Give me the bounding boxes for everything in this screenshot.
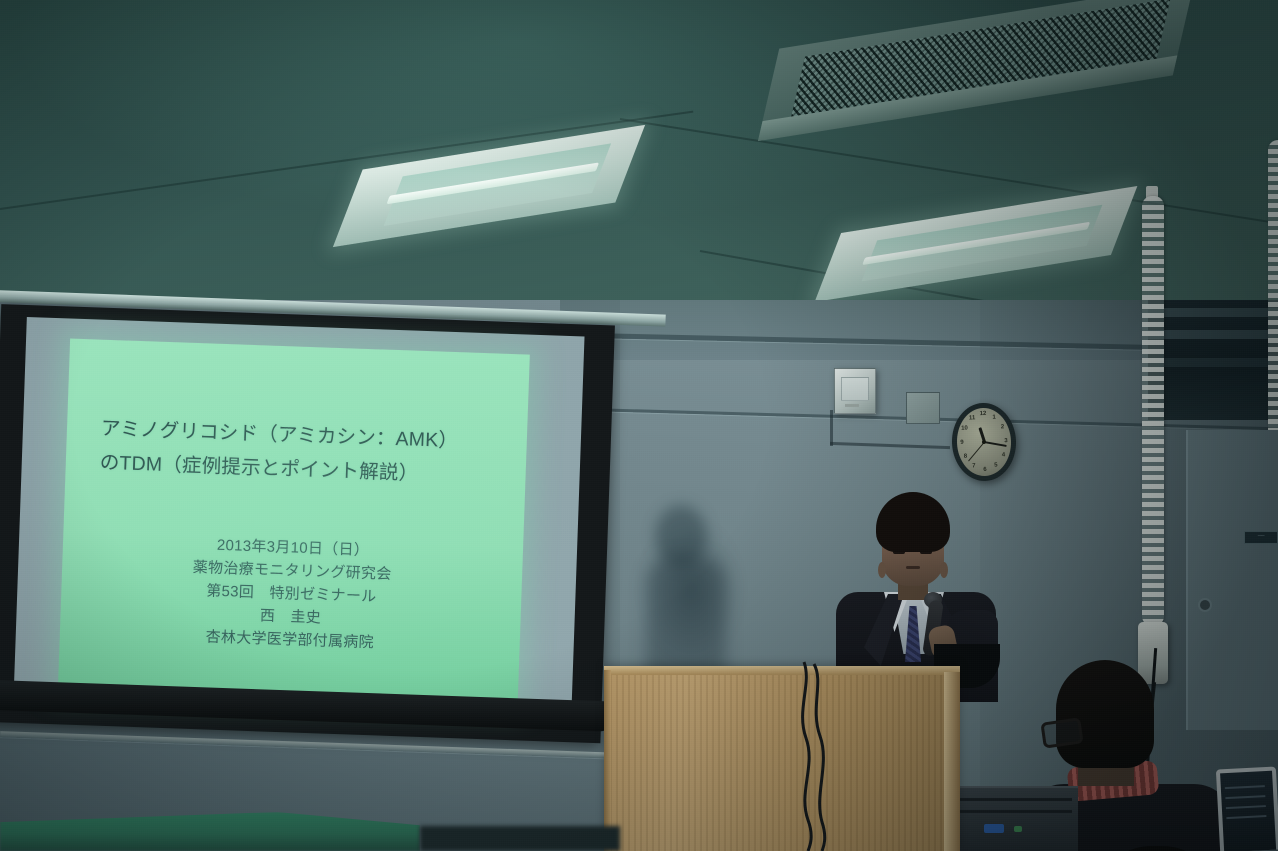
laptop-text-line <box>1225 795 1265 799</box>
clock-numeral: 12 <box>979 411 987 417</box>
presenter-hair <box>876 492 950 552</box>
clock-numeral: 11 <box>968 415 976 421</box>
wall-sign: ── <box>1244 531 1278 544</box>
control-box-led-strip <box>845 404 859 407</box>
clock-numeral: 6 <box>981 467 989 473</box>
rack-slot-line <box>944 798 1072 801</box>
slide-title: アミノグリコシド（アミカシン：AMK） のTDM（症例提示とポイント解説） <box>65 411 527 495</box>
podium-right-edge <box>944 672 960 851</box>
presenter-mouth <box>906 566 920 569</box>
wall-access-panel <box>906 392 940 424</box>
podium-top-edge <box>604 666 960 675</box>
clock-numeral: 4 <box>999 452 1007 458</box>
foreground-shadow-strip <box>420 826 620 851</box>
wall-sign-label: ── <box>1245 532 1277 541</box>
podium-wood-grain <box>604 666 960 851</box>
clock-numeral: 1 <box>990 414 998 420</box>
attendee-head <box>1056 660 1154 768</box>
eyeglasses-icon <box>1040 717 1083 748</box>
laptop-screen[interactable] <box>1216 766 1278 851</box>
ceiling-coiled-cable <box>1136 196 1170 666</box>
rack-slot-line <box>944 810 1072 813</box>
wooden-podium <box>604 666 960 851</box>
clock-numeral: 10 <box>960 426 968 432</box>
clock-numeral: 9 <box>958 440 966 446</box>
clock-numeral: 2 <box>998 424 1006 430</box>
clock-second-hand <box>968 442 985 462</box>
clock-numeral: 5 <box>992 462 1000 468</box>
control-box-slot <box>841 377 869 401</box>
cable-coil <box>1142 196 1164 626</box>
projected-slide: アミノグリコシド（アミカシン：AMK） のTDM（症例提示とポイント解説） 20… <box>58 339 530 705</box>
laptop-display <box>1220 771 1276 851</box>
screen-surface: アミノグリコシド（アミカシン：AMK） のTDM（症例提示とポイント解説） 20… <box>14 317 585 716</box>
door-knob-icon[interactable] <box>1200 600 1210 610</box>
lecture-hall-scene: 12 1 2 3 4 5 6 7 8 9 10 11 ── <box>0 0 1278 851</box>
presenter-ear-left <box>878 562 886 578</box>
projection-screen: アミノグリコシド（アミカシン：AMK） のTDM（症例提示とポイント解説） 20… <box>0 276 620 746</box>
slide-body: 2013年3月10日（日） 薬物治療モニタリング研究会 第53回 特別ゼミナール… <box>59 528 523 659</box>
screen-border: アミノグリコシド（アミカシン：AMK） のTDM（症例提示とポイント解説） 20… <box>0 304 615 743</box>
laptop-text-line <box>1226 805 1266 809</box>
clock-numeral: 7 <box>970 463 978 469</box>
presenter-ear-right <box>940 562 948 578</box>
wall-conduit <box>830 410 833 446</box>
rack-blue-indicator <box>984 824 1004 833</box>
rack-green-indicator <box>1014 826 1022 832</box>
laptop-text-line <box>1225 785 1265 789</box>
wall-control-box[interactable] <box>834 368 876 414</box>
laptop-text-line <box>1226 815 1266 819</box>
clock-face: 12 1 2 3 4 5 6 7 8 9 10 11 <box>956 407 1012 477</box>
podium-left-edge <box>604 670 611 851</box>
